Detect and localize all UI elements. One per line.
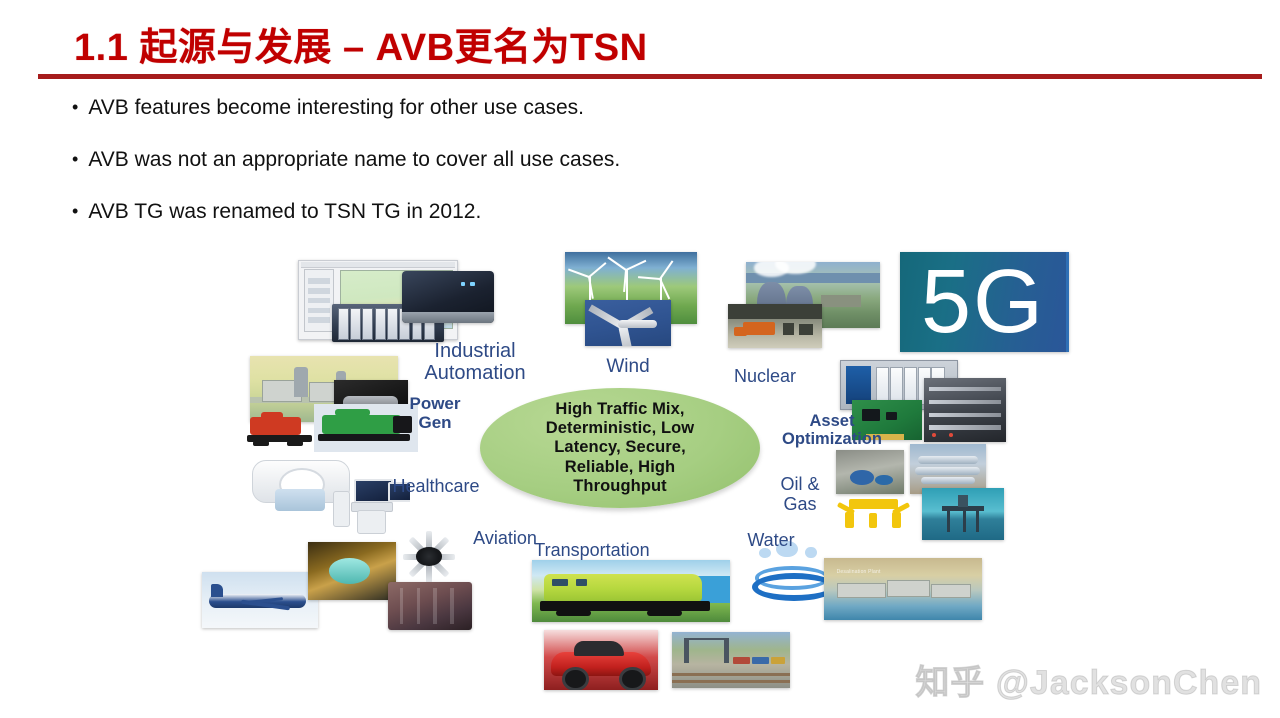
engine-cutaway-image — [388, 582, 472, 630]
five-g-banner: 5G — [900, 252, 1069, 352]
page-title: 1.1 起源与发展 – AVB更名为TSN — [74, 16, 648, 71]
bullet-text: AVB features become interesting for othe… — [88, 96, 584, 120]
locomotive-image — [532, 560, 730, 622]
label-water: Water — [726, 530, 816, 550]
label-asset-optimization: Asset Optimization — [752, 412, 912, 449]
server-rack-image — [924, 378, 1006, 442]
industrial-pc-image — [402, 271, 494, 323]
label-healthcare: Healthcare — [366, 476, 506, 496]
label-industrial-automation: Industrial Automation — [390, 340, 560, 385]
reactor-hall-image — [728, 304, 822, 348]
bullet-marker: • — [72, 148, 78, 171]
slide: 1.1 起源与发展 – AVB更名为TSN • AVB features bec… — [0, 0, 1280, 718]
list-item: • AVB was not an appropriate name to cov… — [72, 148, 972, 172]
core-value-text: High Traffic Mix, Deterministic, Low Lat… — [546, 400, 695, 496]
bullet-text: AVB TG was renamed to TSN TG in 2012. — [88, 200, 481, 224]
sports-car-image — [544, 630, 658, 690]
label-oil-and-gas: Oil & Gas — [750, 474, 850, 514]
label-power-gen: Power Gen — [380, 394, 490, 432]
label-nuclear: Nuclear — [710, 366, 820, 386]
airplane-image — [202, 572, 318, 628]
title-divider — [38, 74, 1262, 79]
label-wind: Wind — [578, 356, 678, 377]
five-g-text: 5G — [921, 257, 1045, 347]
bullet-text: AVB was not an appropriate name to cover… — [88, 148, 620, 172]
red-engine-image — [242, 406, 320, 452]
list-item: • AVB TG was renamed to TSN TG in 2012. — [72, 200, 972, 224]
bullet-marker: • — [72, 200, 78, 223]
watermark: 知乎 @JacksonChen — [915, 655, 1262, 704]
wind-turbine-closeup-image — [585, 300, 671, 346]
offshore-rig-image — [922, 488, 1004, 540]
bullet-list: • AVB features become interesting for ot… — [72, 96, 972, 252]
core-value-ellipse: High Traffic Mix, Deterministic, Low Lat… — [480, 388, 760, 508]
jet-engine-nacelle-image — [308, 542, 396, 600]
pipe-stack-image — [910, 444, 986, 494]
desal-caption: Desalination Plant — [837, 569, 881, 575]
bullet-marker: • — [72, 96, 78, 119]
rail-yard-image — [672, 632, 790, 688]
use-case-diagram: Industrial Automation Power Gen Wind — [180, 238, 1100, 708]
label-transportation: Transportation — [502, 540, 682, 560]
list-item: • AVB features become interesting for ot… — [72, 96, 972, 120]
desalination-plant-image: Desalination Plant — [824, 558, 982, 620]
